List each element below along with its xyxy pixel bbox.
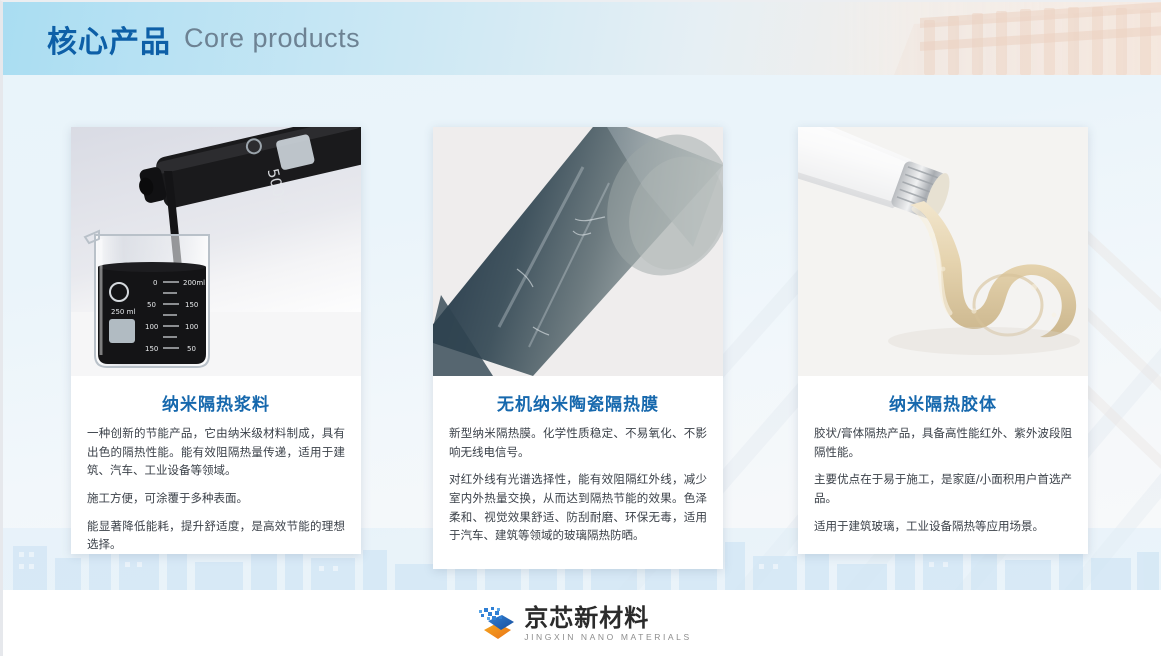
svg-text:100: 100 bbox=[185, 323, 198, 331]
svg-text:200ml: 200ml bbox=[183, 279, 205, 287]
product-card[interactable]: 无机纳米陶瓷隔热膜 新型纳米隔热膜。化学性质稳定、不易氧化、不影响无线电信号。 … bbox=[433, 127, 723, 569]
card-paragraph: 适用于建筑玻璃，工业设备隔热等应用场景。 bbox=[814, 517, 1072, 536]
colonnade-building-watermark-icon bbox=[824, 2, 1161, 75]
card-title: 无机纳米陶瓷隔热膜 bbox=[449, 390, 707, 415]
card-paragraph: 主要优点在于易于施工，是家庭/小面积用户首选产品。 bbox=[814, 470, 1072, 507]
header-title-group: 核心产品 Core products bbox=[47, 2, 360, 75]
page-title-en: Core products bbox=[184, 23, 360, 54]
black-liquid-pouring-into-beaker-photo-icon: 500ml bbox=[71, 127, 361, 376]
jingxin-pixel-rhombus-logo-icon bbox=[475, 606, 515, 642]
svg-text:100: 100 bbox=[145, 323, 158, 331]
svg-text:150: 150 bbox=[185, 301, 198, 309]
product-card-list: 500ml bbox=[3, 75, 1161, 590]
logo-company-name-cn: 京芯新材料 bbox=[524, 606, 692, 630]
slide-body: 500ml bbox=[3, 75, 1161, 590]
product-card[interactable]: 纳米隔热胶体 胶状/膏体隔热产品，具备高性能红外、紫外波段阻隔性能。 主要优点在… bbox=[798, 127, 1088, 554]
svg-text:50: 50 bbox=[147, 301, 156, 309]
company-logo: 京芯新材料 JINGXIN NANO MATERIALS bbox=[475, 606, 692, 642]
card-text-block: 纳米隔热胶体 胶状/膏体隔热产品，具备高性能红外、紫外波段阻隔性能。 主要优点在… bbox=[798, 376, 1088, 549]
white-tube-squeezing-cream-paste-photo-icon bbox=[798, 127, 1088, 376]
card-text-block: 纳米隔热浆料 一种创新的节能产品，它由纳米级材料制成，具有出色的隔热性能。能有效… bbox=[71, 376, 361, 554]
card-paragraph: 胶状/膏体隔热产品，具备高性能红外、紫外波段阻隔性能。 bbox=[814, 424, 1072, 461]
svg-text:0: 0 bbox=[153, 279, 157, 287]
page-title-cn: 核心产品 bbox=[47, 17, 171, 61]
card-paragraph: 对红外线有光谱选择性，能有效阻隔红外线，减少室内外热量交换，从而达到隔热节能的效… bbox=[449, 470, 707, 545]
card-title: 纳米隔热浆料 bbox=[87, 390, 345, 415]
slide-header: 核心产品 Core products bbox=[3, 2, 1161, 75]
slide: 核心产品 Core products bbox=[0, 0, 1161, 656]
product-card[interactable]: 500ml bbox=[71, 127, 361, 554]
rolled-nano-ceramic-insulation-film-photo-icon bbox=[433, 127, 723, 376]
card-text-block: 无机纳米陶瓷隔热膜 新型纳米隔热膜。化学性质稳定、不易氧化、不影响无线电信号。 … bbox=[433, 376, 723, 559]
card-paragraph: 一种创新的节能产品，它由纳米级材料制成，具有出色的隔热性能。能有效阻隔热量传递，… bbox=[87, 424, 345, 480]
slide-footer: 京芯新材料 JINGXIN NANO MATERIALS bbox=[3, 590, 1161, 656]
logo-text-block: 京芯新材料 JINGXIN NANO MATERIALS bbox=[524, 606, 692, 642]
logo-company-name-en: JINGXIN NANO MATERIALS bbox=[524, 633, 692, 642]
card-paragraph: 施工方便，可涂覆于多种表面。 bbox=[87, 489, 345, 508]
card-paragraph: 新型纳米隔热膜。化学性质稳定、不易氧化、不影响无线电信号。 bbox=[449, 424, 707, 461]
card-paragraph: 能显著降低能耗，提升舒适度，是高效节能的理想选择。 bbox=[87, 517, 345, 554]
svg-text:50: 50 bbox=[187, 345, 196, 353]
svg-text:150: 150 bbox=[145, 345, 158, 353]
card-title: 纳米隔热胶体 bbox=[814, 390, 1072, 415]
svg-text:250 ml: 250 ml bbox=[111, 308, 135, 316]
